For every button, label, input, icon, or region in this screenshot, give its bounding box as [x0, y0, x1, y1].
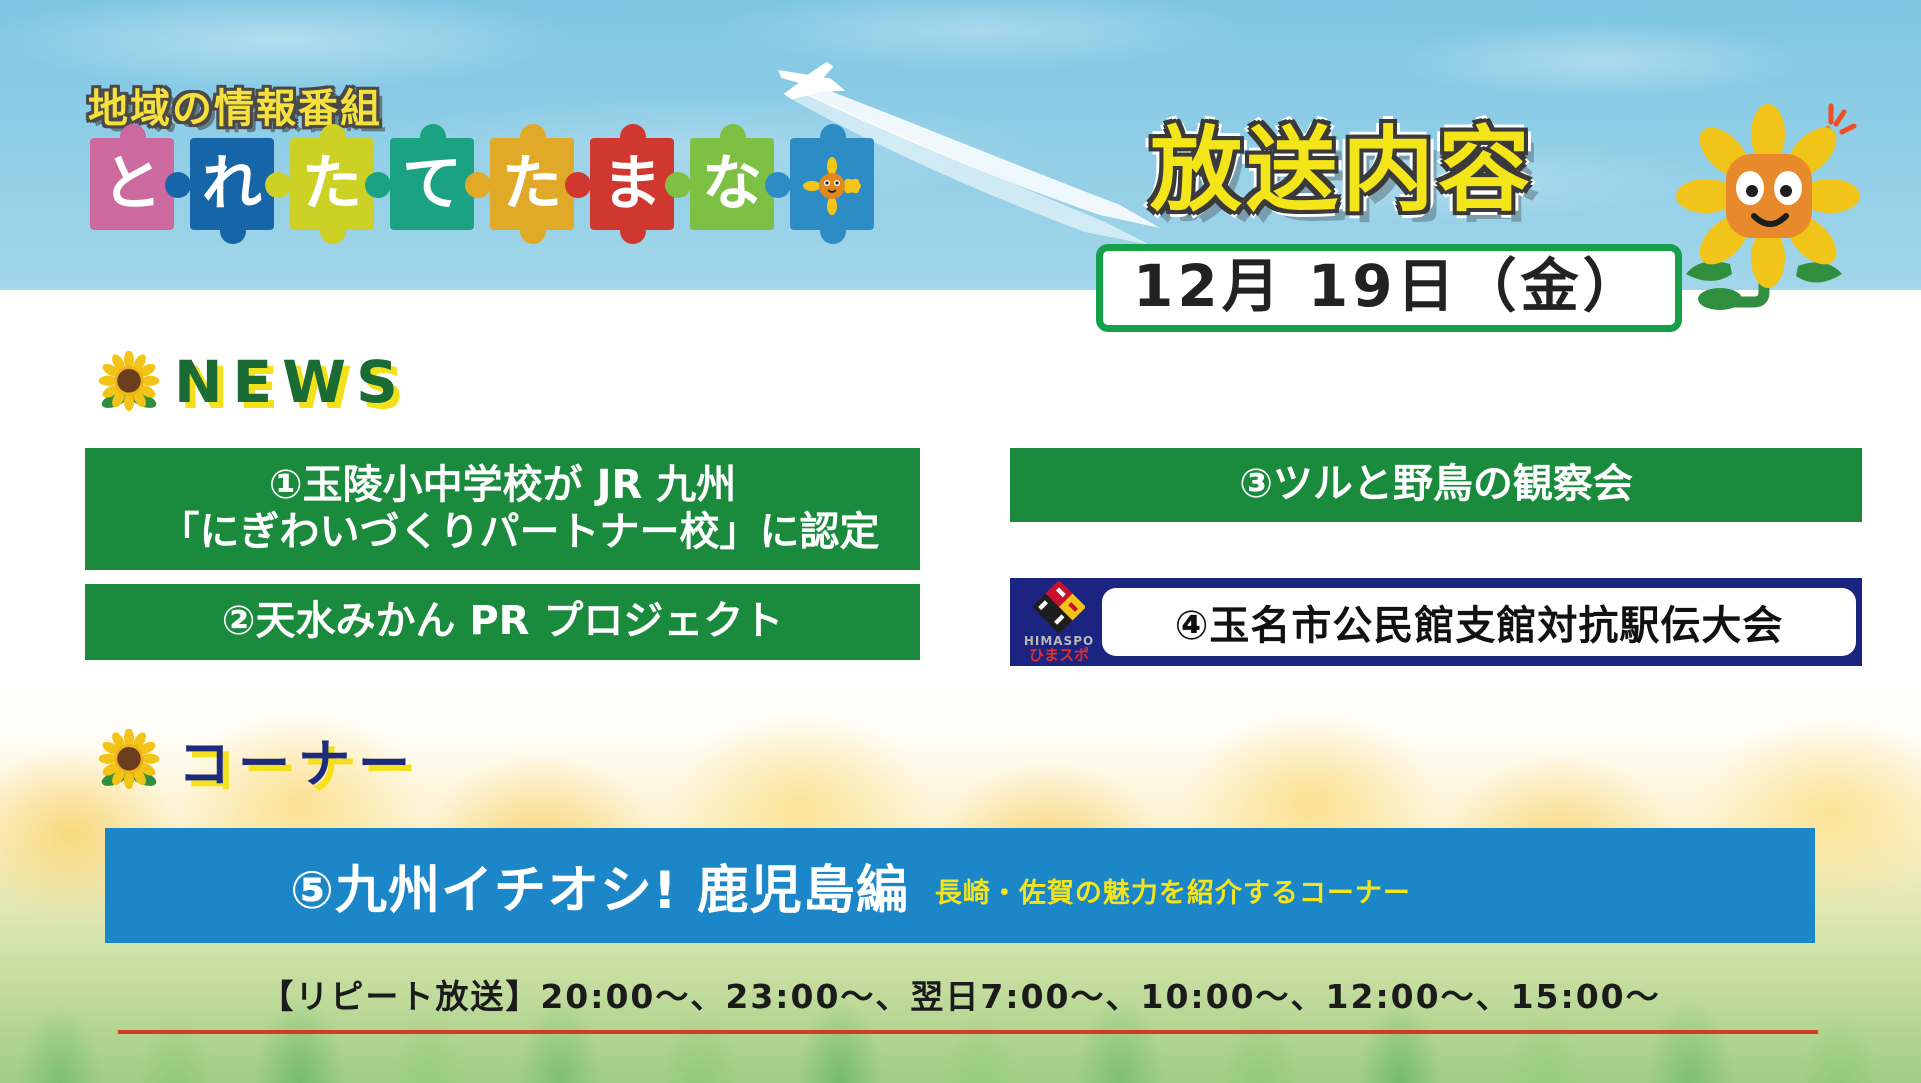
- broadcast-date-text: 12月 19日（金）: [1133, 257, 1645, 315]
- repeat-broadcast-footer: 【リピート放送】20:00〜、23:00〜、翌日7:00〜、10:00〜、12:…: [0, 970, 1921, 1018]
- sunflower-mascot-icon: [1668, 96, 1878, 316]
- corner-item-5[interactable]: ⑤九州イチオシ! 鹿児島編 長崎・佐賀の魅力を紹介するコーナー: [105, 828, 1815, 943]
- sunflower-bullet-icon: [98, 729, 160, 791]
- news-item-1[interactable]: ①玉陵小中学校が JR 九州 「にぎわいづくりパートナー校」に認定: [85, 448, 920, 570]
- puzzle-piece-label: た: [484, 136, 580, 232]
- news-item-2[interactable]: ②天水みかん PR プロジェクト: [85, 584, 920, 660]
- news-item-1-line1: ①玉陵小中学校が JR 九州: [126, 462, 880, 509]
- news-item-1-line2: 「にぎわいづくりパートナー校」に認定: [126, 509, 880, 556]
- broadcast-date-badge: 12月 19日（金）: [1096, 244, 1682, 332]
- puzzle-piece-5: た: [484, 128, 580, 238]
- news-item-4-panel: ④玉名市公民館支館対抗駅伝大会: [1102, 588, 1856, 656]
- puzzle-piece-label: れ: [184, 136, 280, 232]
- news-item-3-label: ③ツルと野鳥の観察会: [1239, 461, 1633, 508]
- puzzle-piece-label: な: [684, 136, 780, 232]
- news-heading-label: NEWS: [174, 348, 408, 416]
- himaspo-mark-icon: [1033, 581, 1085, 633]
- news-item-2-label: ②天水みかん PR プロジェクト: [222, 598, 784, 645]
- puzzle-piece-7: な: [684, 128, 780, 238]
- news-item-4-label: ④玉名市公民館支館対抗駅伝大会: [1175, 593, 1784, 651]
- puzzle-piece-8-mascot: [784, 128, 880, 238]
- corner-item-title: ⑤九州イチオシ! 鹿児島編: [290, 848, 909, 923]
- news-item-4[interactable]: HIMASPO ひまスポ ④玉名市公民館支館対抗駅伝大会: [1010, 578, 1862, 666]
- puzzle-piece-label: と: [84, 136, 180, 232]
- broadcast-schedule-poster: 地域の情報番組 と れ た て: [0, 0, 1921, 1083]
- puzzle-piece-2: れ: [184, 128, 280, 238]
- puzzle-piece-3: た: [284, 128, 380, 238]
- footer-divider: [118, 1030, 1818, 1034]
- broadcast-content-title: 放送内容: [1150, 96, 1534, 229]
- himaspo-logo-jp: ひまスポ: [1029, 648, 1089, 663]
- puzzle-piece-label: ま: [584, 136, 680, 232]
- himaspo-logo: HIMASPO ひまスポ: [1016, 581, 1102, 663]
- puzzle-piece-label: た: [284, 136, 380, 232]
- puzzle-piece-label: て: [384, 136, 480, 232]
- mascot-face-icon: [1726, 154, 1812, 238]
- puzzle-piece-1: と: [84, 128, 180, 238]
- corner-item-subtitle: 長崎・佐賀の魅力を紹介するコーナー: [935, 871, 1411, 910]
- program-logo-puzzle: と れ た て た: [84, 128, 804, 258]
- mini-sunflower-mascot-icon: [784, 128, 880, 238]
- news-section-heading: NEWS: [98, 348, 408, 416]
- corner-heading-label: コーナー: [178, 722, 418, 797]
- puzzle-piece-4: て: [384, 128, 480, 238]
- puzzle-piece-6: ま: [584, 128, 680, 238]
- repeat-broadcast-text: 【リピート放送】20:00〜、23:00〜、翌日7:00〜、10:00〜、12:…: [260, 977, 1660, 1016]
- sunflower-bullet-icon: [98, 351, 160, 413]
- corner-section-heading: コーナー: [98, 722, 418, 797]
- news-item-3[interactable]: ③ツルと野鳥の観察会: [1010, 448, 1862, 522]
